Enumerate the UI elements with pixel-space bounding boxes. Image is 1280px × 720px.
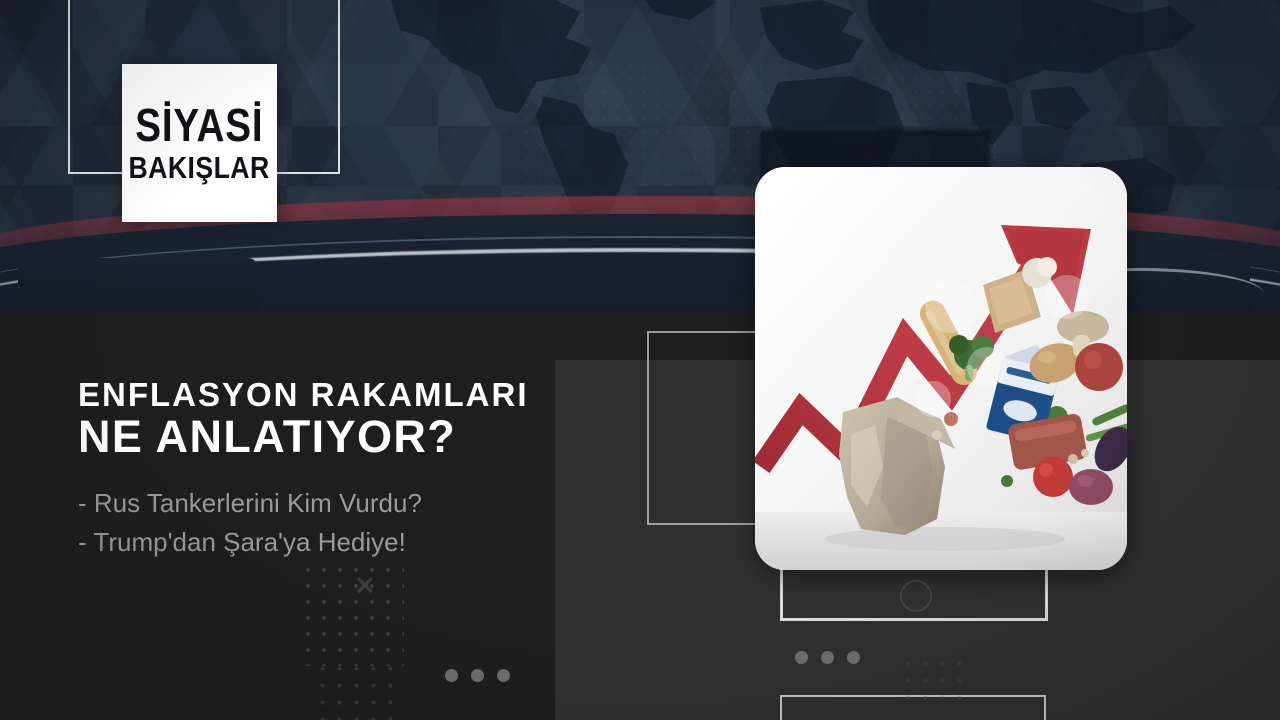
desk-podium-left — [18, 258, 258, 311]
bullet-item-2: - Trump'dan Şara'ya Hediye! — [78, 523, 558, 563]
dot-pattern-3 — [900, 655, 972, 705]
dot-3 — [497, 669, 510, 682]
dot-2 — [471, 669, 484, 682]
x-mark-icon: × — [350, 570, 380, 600]
inflation-graphic-thumbnail — [755, 167, 1127, 570]
bullet-item-1: - Rus Tankerlerini Kim Vurdu? — [78, 484, 558, 524]
dot-2 — [821, 651, 834, 664]
logo-line-2: BAKIŞLAR — [129, 152, 270, 183]
home-button-icon — [900, 580, 932, 612]
decor-device-frame — [780, 567, 1048, 621]
dot-3 — [847, 651, 860, 664]
headline-line-1: ENFLASYON RAKAMLARI — [78, 378, 558, 411]
three-dots-right — [795, 651, 860, 664]
inflation-illustration — [755, 167, 1127, 570]
headline-line-2: NE ANLATIYOR? — [78, 413, 558, 462]
dot-pattern-2 — [314, 660, 392, 720]
title-block: ENFLASYON RAKAMLARI NE ANLATIYOR? - Rus … — [78, 378, 558, 563]
dot-1 — [795, 651, 808, 664]
three-dots-left — [445, 669, 510, 682]
dot-1 — [445, 669, 458, 682]
video-thumbnail-canvas: SİYASİ BAKIŞLAR × ENFLASYON RAKAMLARI NE… — [0, 0, 1280, 720]
bullet-list: - Rus Tankerlerini Kim Vurdu? - Trump'da… — [78, 484, 558, 563]
logo-line-1: SİYASİ — [135, 103, 263, 147]
channel-logo: SİYASİ BAKIŞLAR — [122, 64, 277, 222]
